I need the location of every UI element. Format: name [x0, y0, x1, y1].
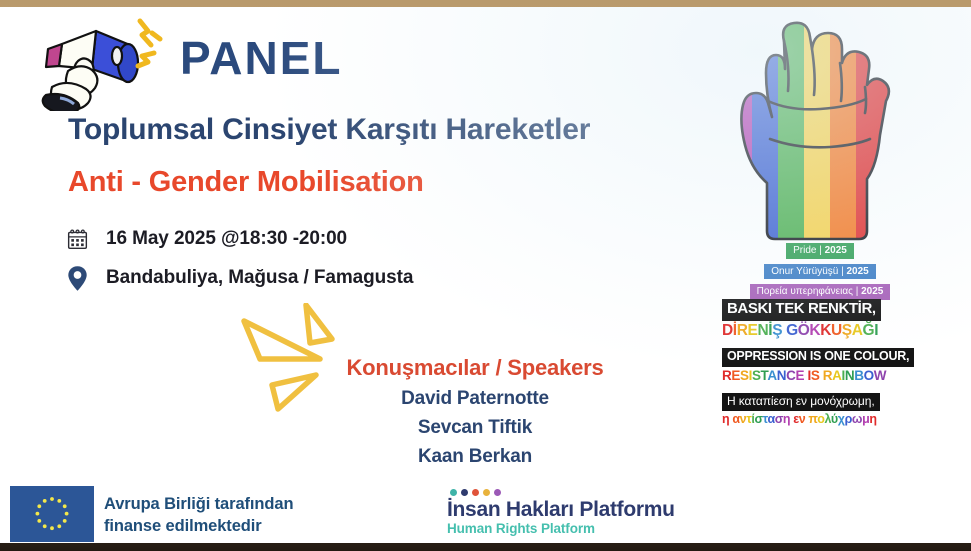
eu-funding-line-2: finanse edilmektedir — [104, 515, 293, 537]
slogan-rainbow-line: DİRENİŞ GÖKKUŞAĞI — [722, 322, 918, 340]
slogan-english: OPPRESSION IS ONE COLOUR, RESISTANCE IS … — [722, 347, 918, 383]
banner-poreia: Πορεία υπερηφάνειας | 2025 — [750, 284, 891, 300]
slogan-turkish: BASKI TEK RENKTİR, DİRENİŞ GÖKKUŞAĞI — [722, 299, 918, 339]
slide-left-column: PANEL Toplumsal Cinsiyet Karşıtı Hareket… — [0, 7, 715, 543]
slogan-dark-line: Η καταπίεση εν μονόχρωμη, — [722, 393, 880, 411]
presentation-slide: PANEL Toplumsal Cinsiyet Karşıtı Hareket… — [0, 7, 971, 543]
ihp-name-turkish: İnsan Hakları Platformu — [447, 498, 675, 521]
location-pin-icon — [62, 262, 92, 294]
pride-poster: Pride | 2025 Onur Yürüyüşü | 2025 Πορεία… — [722, 7, 918, 467]
human-rights-platform-logo: İnsan Hakları Platformu Human Rights Pla… — [447, 489, 675, 537]
slogan-dark-line: OPPRESSION IS ONE COLOUR, — [722, 348, 914, 367]
speaker-name: David Paternotte — [330, 388, 620, 410]
logo-dot — [461, 489, 468, 496]
slide-title-english: Anti - Gender Mobilisation — [68, 166, 424, 199]
banner-pride: Pride | 2025 — [786, 243, 854, 259]
logo-dot — [483, 489, 490, 496]
photographed-slide-frame: PANEL Toplumsal Cinsiyet Karşıtı Hareket… — [0, 0, 971, 551]
slogan-rainbow-line: η αντίσταση εν πολύχρωμη — [722, 412, 918, 426]
event-location-text: Bandabuliya, Mağusa / Famagusta — [106, 267, 413, 289]
slide-footer: Avrupa Birliği tarafından finanse edilme… — [0, 477, 971, 543]
speaker-name: Sevcan Tiftik — [330, 417, 620, 439]
speaker-name: Kaan Berkan — [330, 446, 620, 468]
ihp-name-english: Human Rights Platform — [447, 521, 675, 537]
pride-banner-group: Pride | 2025 Onur Yürüyüşü | 2025 Πορεία… — [722, 240, 918, 302]
speakers-heading: Konuşmacılar / Speakers — [330, 355, 620, 381]
logo-dot — [472, 489, 479, 496]
logo-dot — [450, 489, 457, 496]
logo-dot — [494, 489, 501, 496]
logo-dots-icon — [450, 489, 675, 496]
slogan-rainbow-line: RESISTANCE IS RAINBOW — [722, 368, 918, 384]
megaphone-icon — [22, 9, 167, 111]
panel-kicker: PANEL — [180, 35, 343, 81]
rainbow-fist-icon — [726, 15, 902, 245]
slide-title-turkish: Toplumsal Cinsiyet Karşıtı Hareketler — [68, 113, 590, 147]
event-location-row: Bandabuliya, Mağusa / Famagusta — [62, 262, 413, 294]
calendar-icon — [62, 223, 92, 255]
banner-onur-yuruyusu: Onur Yürüyüşü | 2025 — [764, 264, 875, 280]
eu-funding-text: Avrupa Birliği tarafından finanse edilme… — [104, 493, 293, 538]
eu-flag-icon — [10, 486, 94, 542]
slogan-dark-line: BASKI TEK RENKTİR, — [722, 299, 881, 321]
speakers-block: Konuşmacılar / Speakers David Paternotte… — [330, 355, 620, 468]
slogan-greek: Η καταπίεση εν μονόχρωμη, η αντίσταση εν… — [722, 392, 918, 427]
event-date-row: 16 May 2025 @18:30 -20:00 — [62, 223, 347, 255]
slogan-group: BASKI TEK RENKTİR, DİRENİŞ GÖKKUŞAĞI OPP… — [722, 299, 918, 434]
eu-funding-line-1: Avrupa Birliği tarafından — [104, 493, 293, 515]
event-date-text: 16 May 2025 @18:30 -20:00 — [106, 228, 347, 250]
